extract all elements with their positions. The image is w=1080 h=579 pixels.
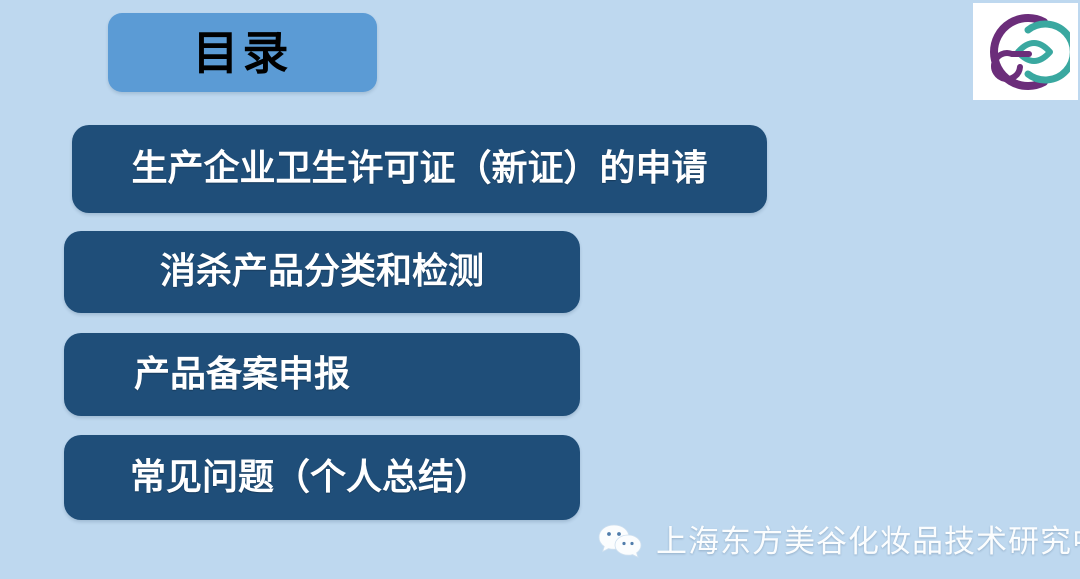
agenda-item-label: 消杀产品分类和检测	[160, 254, 484, 290]
agenda-item-1[interactable]: 生产企业卫生许可证（新证）的申请	[72, 125, 767, 213]
agenda-item-2[interactable]: 消杀产品分类和检测	[64, 231, 580, 313]
agenda-item-label: 产品备案申报	[134, 357, 350, 393]
wechat-icon	[598, 523, 644, 561]
agenda-item-4[interactable]: 常见问题（个人总结）	[64, 435, 580, 520]
agenda-item-3[interactable]: 产品备案申报	[64, 333, 580, 416]
slide-title-box: 目录	[108, 13, 377, 92]
slide-canvas: 目录 生产企业卫生许可证（新证）的申请 消杀产品分类和检测 产品备案申报 常见问…	[0, 0, 1080, 579]
wechat-watermark: 上海东方美谷化妆品技术研究中心	[598, 523, 1080, 561]
page-title: 目录	[193, 30, 293, 76]
agenda-item-label: 常见问题（个人总结）	[130, 460, 490, 496]
wechat-watermark-label: 上海东方美谷化妆品技术研究中心	[656, 527, 1080, 558]
company-logo-badge	[973, 3, 1078, 100]
company-logo-icon	[982, 10, 1070, 94]
agenda-item-label: 生产企业卫生许可证（新证）的申请	[131, 151, 707, 187]
